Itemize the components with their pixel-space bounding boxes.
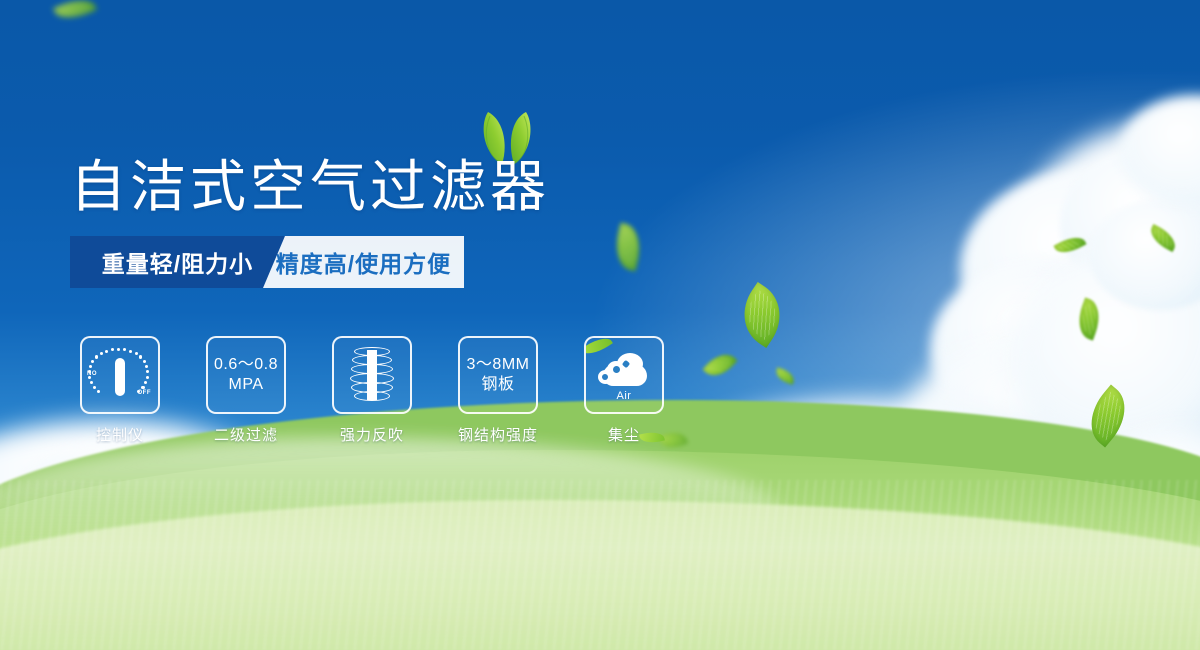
feature-list: NO OFF 控制仪 0.6〜0.8 MPA 二级过滤 (80, 336, 664, 445)
feature-icon-box (332, 336, 412, 414)
steel-value-line1: 3〜8MM (467, 355, 530, 375)
steel-value-line2: 钢板 (481, 375, 514, 395)
air-cloud-icon (595, 348, 653, 388)
feature-icon-box: NO OFF (80, 336, 160, 414)
feature-icon-box: 3〜8MM 钢板 (458, 336, 538, 414)
feature-icon-box: Air (584, 336, 664, 414)
feature-label: 二级过滤 (214, 424, 278, 445)
product-banner: 自洁式空气过滤器 重量轻/阻力小 精度高/使用方便 (0, 0, 1200, 650)
pressure-value-line2: MPA (229, 375, 264, 395)
feature-item-dust[interactable]: Air 集尘 (584, 336, 664, 445)
gauge-needle-icon (115, 358, 125, 396)
feature-item-pressure[interactable]: 0.6〜0.8 MPA 二级过滤 (206, 336, 286, 445)
feature-label: 集尘 (608, 424, 640, 445)
feature-label: 强力反吹 (340, 424, 404, 445)
filter-stack-icon (345, 346, 399, 404)
leaf-icon (639, 430, 665, 446)
subtitle-left-badge: 重量轻/阻力小 (70, 236, 285, 288)
subtitle-right-badge: 精度高/使用方便 (263, 236, 464, 288)
feature-label: 钢结构强度 (458, 424, 538, 445)
feature-item-controller[interactable]: NO OFF 控制仪 (80, 336, 160, 445)
pressure-value-line1: 0.6〜0.8 (214, 355, 278, 375)
gauge-no-label: NO (87, 371, 97, 377)
page-title: 自洁式空气过滤器 (70, 142, 550, 223)
feature-icon-box: 0.6〜0.8 MPA (206, 336, 286, 414)
feature-label: 控制仪 (96, 424, 144, 445)
feature-item-blowback[interactable]: 强力反吹 (332, 336, 412, 445)
grass-texture (0, 480, 1200, 650)
feature-item-steel[interactable]: 3〜8MM 钢板 钢结构强度 (458, 336, 538, 445)
gauge-icon: NO OFF (89, 346, 151, 404)
air-label: Air (617, 390, 632, 402)
gauge-off-label: OFF (138, 390, 152, 396)
subtitle-bar: 重量轻/阻力小 精度高/使用方便 (70, 236, 464, 288)
